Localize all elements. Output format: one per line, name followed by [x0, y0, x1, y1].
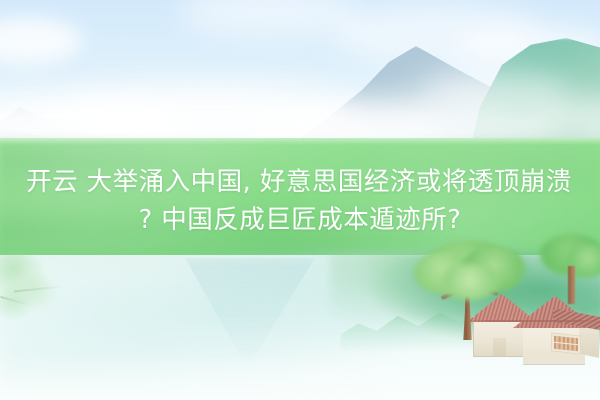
- tree-canopy: [440, 264, 500, 300]
- left-leafy-branch: [0, 252, 74, 326]
- house-window: [551, 332, 581, 354]
- bottom-fade: [0, 354, 600, 400]
- distant-tree: [540, 234, 600, 304]
- headline-line-2: ? 中国反成巨匠成本遁迹所?: [139, 202, 462, 238]
- foreground-tree: [418, 238, 528, 343]
- headline-line-1: 开云 大举涌入中国, 好意思国经济或将透顶崩溃: [26, 164, 572, 200]
- landscape-banner-image: 开云 大举涌入中国, 好意思国经济或将透顶崩溃 ? 中国反成巨匠成本遁迹所?: [0, 0, 600, 400]
